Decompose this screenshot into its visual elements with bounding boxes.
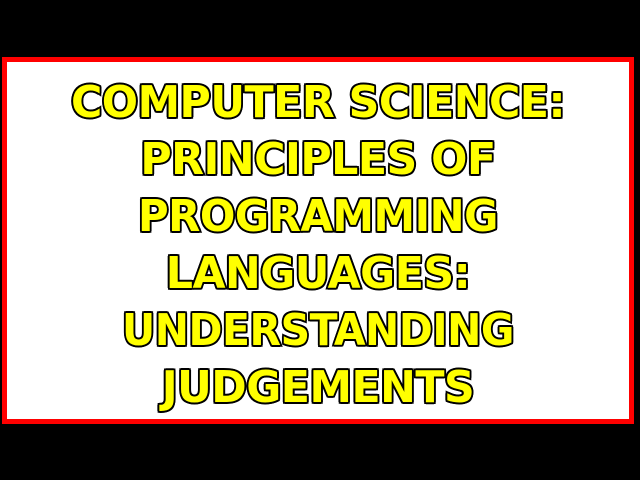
letterbox-bar-top [0, 0, 640, 57]
title-line-3: PROGRAMMING [23, 188, 614, 245]
title-line-1: COMPUTER SCIENCE: [16, 74, 619, 131]
title-line-4: LANGUAGES: [16, 245, 619, 302]
title-card: COMPUTER SCIENCE: PRINCIPLES OF PROGRAMM… [2, 57, 634, 424]
video-thumbnail: COMPUTER SCIENCE: PRINCIPLES OF PROGRAMM… [0, 0, 640, 480]
title-line-5: UNDERSTANDING [29, 302, 607, 359]
title-text-block: COMPUTER SCIENCE: PRINCIPLES OF PROGRAMM… [7, 74, 629, 416]
letterbox-bar-bottom [0, 424, 640, 480]
title-line-6: JUDGEMENTS [16, 359, 619, 416]
title-line-2: PRINCIPLES OF [16, 131, 619, 188]
